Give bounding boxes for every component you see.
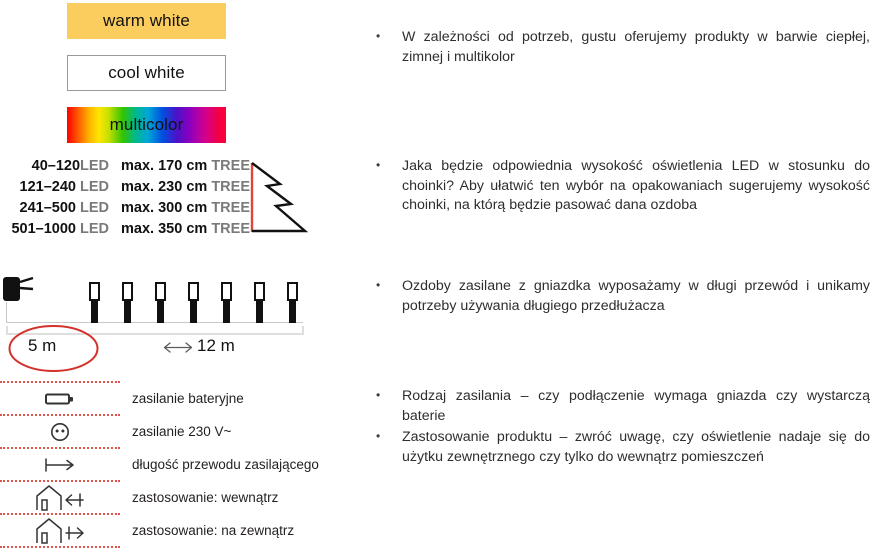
house-indoor-icon <box>0 483 120 513</box>
led-bulb <box>122 282 133 322</box>
led-bulb <box>155 282 166 322</box>
list-item: zastosowanie: na zewnątrz <box>0 515 330 546</box>
house-outdoor-icon <box>0 516 120 546</box>
tree-height-cell: max. 350 cm TREE <box>109 221 250 237</box>
swatch-cool-white-label: cool white <box>108 63 185 83</box>
tree-height-cell: max. 170 cm TREE <box>109 158 250 174</box>
bulb-stem <box>190 300 197 323</box>
led-bulb <box>221 282 232 322</box>
list-item: Ozdoby zasilane z gniazdka wyposażamy w … <box>358 277 870 316</box>
led-size-table: 40–120LED max. 170 cm TREE 121–240 LED m… <box>0 158 250 242</box>
list-item: długość przewodu zasilającego <box>0 449 330 480</box>
list-item: zasilanie 230 V~ <box>0 416 330 447</box>
bulb-stem <box>256 300 263 323</box>
bullet-block-colors: W zależności od potrzeb, gustu oferujemy… <box>358 28 870 69</box>
bulb-stem <box>124 300 131 323</box>
list-item: zasilanie bateryjne <box>0 383 330 414</box>
double-arrow-icon <box>163 341 193 359</box>
bulb-stem <box>157 300 164 323</box>
list-item: Zastosowanie produktu – zwróć uwagę, czy… <box>358 428 870 467</box>
christmas-tree-icon <box>249 160 311 243</box>
bulb-stem <box>91 300 98 323</box>
table-row: 501–1000 LED max. 350 cm TREE <box>0 221 250 242</box>
table-row: 121–240 LED max. 230 cm TREE <box>0 179 250 200</box>
lit-length-label: 12 m <box>197 336 235 356</box>
cable-length-icon <box>0 457 120 473</box>
led-count-cell: 121–240 LED <box>0 179 109 195</box>
string-light-diagram: 5 m 12 m <box>0 262 330 370</box>
bullet-block-height: Jaka będzie odpowiednia wysokość oświetl… <box>358 157 870 218</box>
bulb-stem <box>223 300 230 323</box>
legend-label: zasilanie 230 V~ <box>120 424 231 439</box>
table-row: 40–120LED max. 170 cm TREE <box>0 158 250 179</box>
scale-tick-right <box>302 326 304 335</box>
led-bulb <box>254 282 265 322</box>
swatch-multicolor: multicolor <box>67 107 226 143</box>
bulb-glass <box>89 282 100 301</box>
swatch-warm-white-label: warm white <box>103 11 190 31</box>
legend-label: zasilanie bateryjne <box>120 391 244 406</box>
power-socket-icon <box>0 421 120 443</box>
right-text-column: W zależności od potrzeb, gustu oferujemy… <box>358 0 880 552</box>
bulb-glass <box>122 282 133 301</box>
legend-label: zastosowanie: na zewnątrz <box>120 523 294 538</box>
list-item: Rodzaj zasilania – czy podłączenie wymag… <box>358 387 870 426</box>
bulb-glass <box>287 282 298 301</box>
led-count-cell: 40–120LED <box>0 158 109 174</box>
tree-height-cell: max. 230 cm TREE <box>109 179 250 195</box>
legend-label: długość przewodu zasilającego <box>120 457 319 472</box>
bulb-glass <box>155 282 166 301</box>
legend-divider <box>0 546 120 548</box>
swatch-multicolor-label: multicolor <box>110 115 184 135</box>
swatch-cool-white: cool white <box>67 55 226 91</box>
bulb-glass <box>221 282 232 301</box>
legend-label: zastosowanie: wewnątrz <box>120 490 278 505</box>
list-item: W zależności od potrzeb, gustu oferujemy… <box>358 28 870 67</box>
bulb-stem <box>289 300 296 323</box>
bullet-block-power-and-use: Rodzaj zasilania – czy podłączenie wymag… <box>358 387 870 469</box>
list-item: Jaka będzie odpowiednia wysokość oświetl… <box>358 157 870 216</box>
led-bulb <box>287 282 298 322</box>
bulb-glass <box>188 282 199 301</box>
led-bulb <box>188 282 199 322</box>
swatch-warm-white: warm white <box>67 3 226 39</box>
symbol-legend: zasilanie bateryjne zasilanie 230 V~ dłu… <box>0 381 330 548</box>
battery-icon <box>0 391 120 407</box>
list-item: zastosowanie: wewnątrz <box>0 482 330 513</box>
left-illustration-column: warm white cool white multicolor 40–120L… <box>0 0 355 552</box>
cable-length-label: 5 m <box>28 336 56 356</box>
led-bulb <box>89 282 100 322</box>
led-count-cell: 241–500 LED <box>0 200 109 216</box>
led-count-cell: 501–1000 LED <box>0 221 109 237</box>
bullet-block-cable: Ozdoby zasilane z gniazdka wyposażamy w … <box>358 277 870 318</box>
tree-height-cell: max. 300 cm TREE <box>109 200 250 216</box>
bulb-glass <box>254 282 265 301</box>
table-row: 241–500 LED max. 300 cm TREE <box>0 200 250 221</box>
